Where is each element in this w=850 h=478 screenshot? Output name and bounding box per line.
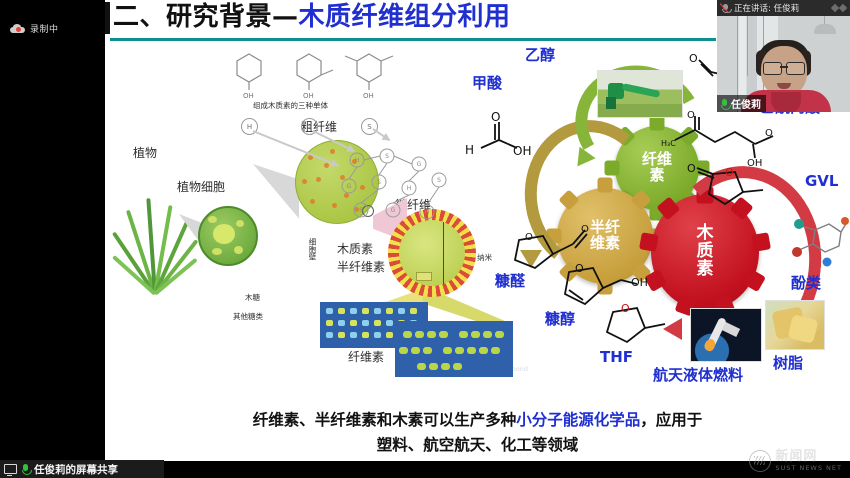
participant-name-badge: 任俊莉 [717, 95, 766, 112]
screen-share-indicator: 任俊莉的屏幕共享 [0, 460, 164, 478]
video-tile-header: 正在讲话: 任俊莉 [717, 0, 850, 16]
svg-text:O: O [687, 162, 696, 175]
svg-text:S: S [359, 207, 363, 214]
caption-1b-highlight: 小分子能源化学品 [516, 411, 640, 429]
svg-text:G: G [391, 207, 396, 214]
svg-text:O: O [689, 52, 698, 65]
resin-photo [765, 300, 825, 350]
screen-share-icon [4, 464, 17, 474]
participant-video-tile[interactable]: 正在讲话: 任俊莉 任俊莉 [717, 0, 850, 112]
svg-text:S: S [385, 153, 389, 160]
svg-text:OH: OH [243, 92, 254, 100]
ceiling-lamp [814, 24, 836, 34]
news-watermark: 新闻网 SUST NEWS NET [749, 450, 842, 472]
svg-text:O: O [525, 232, 533, 243]
participant-name: 任俊莉 [731, 96, 761, 111]
svg-text:H: H [425, 209, 430, 216]
label-thf: THF [600, 348, 633, 366]
magnify-cone-2 [253, 164, 299, 234]
recording-label: 录制中 [30, 22, 59, 35]
label-formic-acid: 甲酸 [472, 72, 502, 93]
label-cell-wall: 细胞壁 [307, 238, 318, 261]
svg-text:O: O [725, 166, 734, 179]
svg-text:OH: OH [631, 276, 648, 289]
gvl-structure: O O [683, 158, 779, 212]
microfiber-chip [416, 272, 432, 281]
monomer-arrow-3 [372, 128, 390, 141]
news-logo-icon [749, 450, 771, 472]
label-lignin-callout: 木质素 [337, 240, 373, 257]
gear-lignin-label: 木质素 [694, 225, 716, 279]
svg-text:H: H [355, 157, 360, 164]
lignin-monomer-structures: OH OH OH [235, 48, 415, 104]
mic-icon [21, 464, 30, 475]
mic-muted-icon [721, 3, 730, 14]
gear-cellulose-label: 纤维素 [642, 152, 672, 184]
mic-icon [720, 99, 728, 109]
svg-text:S: S [437, 177, 441, 184]
video-feed: 任俊莉 [717, 16, 850, 112]
caption-line-1: 纤维素、半纤维素和木素可以生产多种小分子能源化学品，应用于 [105, 409, 850, 432]
title-underline [110, 38, 716, 41]
ethanol-fuel-photo [597, 70, 683, 118]
label-gvl: GVL [805, 172, 838, 190]
watermark-cn: 新闻网 [775, 450, 817, 464]
label-aerospace-fuel: 航天液体燃料 [653, 364, 743, 385]
svg-text:OH: OH [303, 92, 314, 100]
svg-text:OH: OH [363, 92, 374, 100]
scale-bar [443, 222, 444, 284]
meeting-screen-share-view: 录制中 二、研究背景—木质纤维组分利用 植物 植物细胞 细胞壁 粗纤维 微纤维 … [0, 0, 850, 478]
title-black-part: 二、研究背景— [113, 2, 299, 32]
caption-1a: 纤维素、半纤维素和木素可以生产多种 [253, 411, 517, 429]
recording-indicator: 录制中 [10, 22, 59, 35]
furfural-structure: O O [499, 222, 597, 276]
more-options-icon[interactable] [832, 5, 846, 11]
watermark-en: SUST NEWS NET [775, 465, 842, 472]
speaking-label: 正在讲话: 任俊莉 [734, 2, 799, 14]
plant-illustration [123, 182, 189, 294]
microfiber-core [399, 220, 465, 286]
page-title: 二、研究背景—木质纤维组分利用 [113, 4, 511, 30]
aerospace-fuel-photo [690, 308, 762, 362]
cellulose-structure-panel [395, 321, 513, 377]
title-blue-part: 木质纤维组分利用 [299, 2, 511, 32]
phenols-model [791, 218, 849, 270]
caption-line-2: 塑料、航空航天、化工等领域 [105, 434, 850, 457]
label-cellulose-callout: 纤维素 [348, 348, 384, 365]
label-ethanol: 乙醇 [525, 44, 555, 65]
glasses [763, 62, 805, 73]
lignin-network-structure: HSG GSHS SGH [341, 150, 453, 226]
label-phenols: 酚类 [791, 272, 821, 293]
svg-text:H: H [465, 143, 474, 157]
caption-1c: ，应用于 [640, 411, 702, 429]
svg-text:OH: OH [513, 144, 531, 158]
svg-text:O: O [765, 128, 773, 139]
formic-acid-structure: O H OH [463, 110, 535, 156]
label-furfuryl-alcohol: 糠醇 [545, 308, 575, 329]
label-resin: 树脂 [773, 352, 803, 373]
recording-sidebar: 录制中 [0, 0, 105, 478]
svg-text:S: S [377, 179, 381, 186]
label-furfural: 糠醛 [495, 270, 525, 291]
cloud-record-icon [10, 24, 25, 33]
label-other-sugars: 其他糖类 [233, 311, 263, 322]
svg-text:H₃C: H₃C [661, 139, 676, 148]
label-xylose: 木糖 [245, 292, 260, 303]
svg-text:G: G [347, 183, 352, 190]
label-plant: 植物 [133, 144, 157, 161]
svg-text:H: H [407, 185, 412, 192]
svg-text:O: O [491, 110, 500, 124]
plant-cell-illustration [198, 206, 258, 266]
svg-text:O: O [687, 110, 695, 121]
screen-share-label: 任俊莉的屏幕共享 [34, 462, 118, 477]
label-hemicellulose-callout: 半纤维素 [337, 258, 385, 275]
gear-hemicellulose-label: 半纤维素 [588, 220, 622, 252]
title-accent-bar [105, 2, 110, 34]
svg-text:G: G [417, 161, 422, 168]
